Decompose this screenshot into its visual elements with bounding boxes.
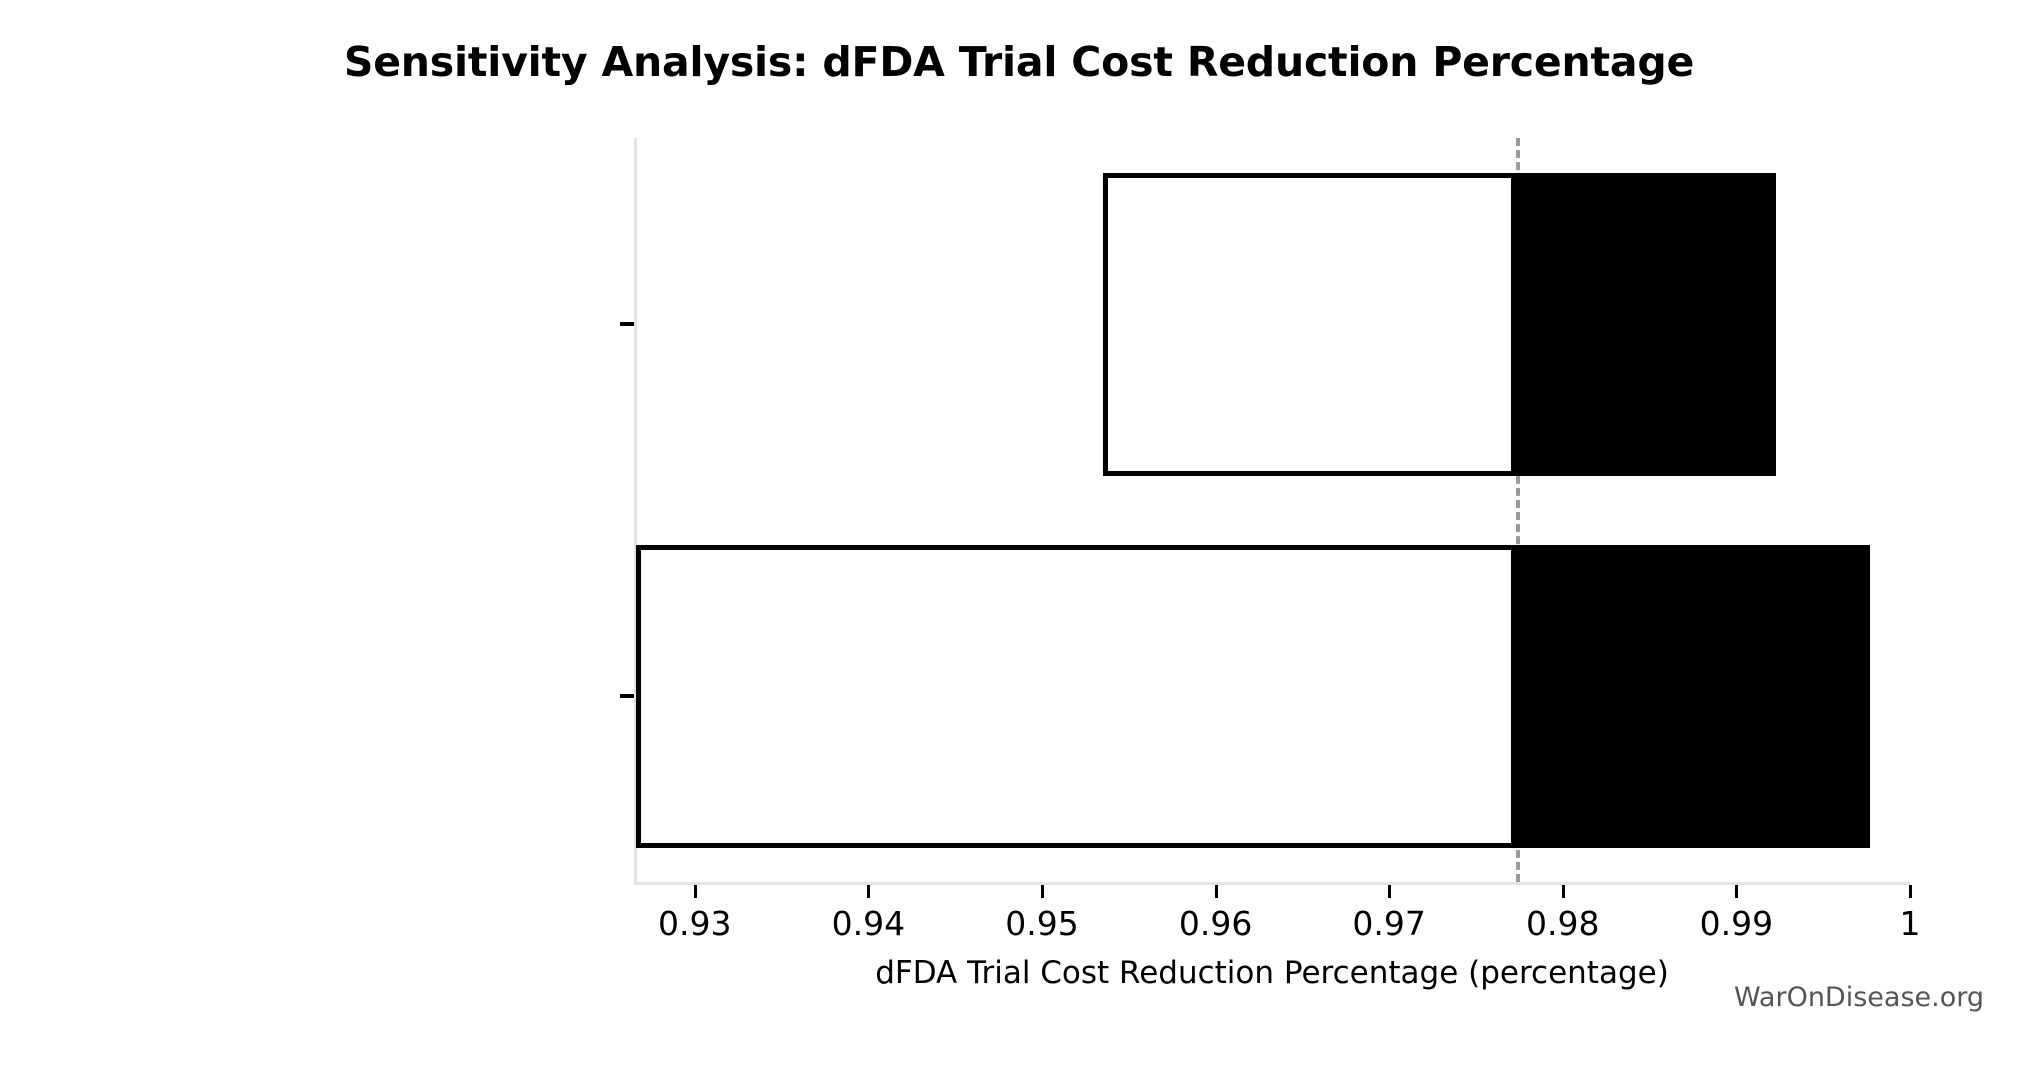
x-axis-tick-label: 1 xyxy=(1900,904,1921,943)
tornado-bar xyxy=(634,173,1910,476)
chart-title: Sensitivity Analysis: dFDA Trial Cost Re… xyxy=(0,38,2038,86)
plot-area: Phase 3 Cost per PatientdFDA Pragmatic T… xyxy=(634,138,1910,882)
tornado-bar-high-segment xyxy=(1516,173,1776,476)
x-axis-tick xyxy=(1388,885,1391,898)
x-axis-tick-label: 0.94 xyxy=(832,904,905,943)
x-axis-tick-label: 0.95 xyxy=(1005,904,1078,943)
x-axis-tick xyxy=(1215,885,1218,898)
tornado-bar-high-segment xyxy=(1516,545,1870,848)
watermark: WarOnDisease.org xyxy=(1734,982,1984,1013)
x-axis-tick-label: 0.93 xyxy=(658,904,731,943)
x-axis-tick xyxy=(1041,885,1044,898)
y-axis-tick xyxy=(620,322,634,326)
x-axis-tick xyxy=(1562,885,1565,898)
x-axis-title: dFDA Trial Cost Reduction Percentage (pe… xyxy=(634,955,1910,991)
y-axis-tick xyxy=(620,694,634,698)
x-axis-tick xyxy=(867,885,870,898)
x-axis-tick xyxy=(1909,885,1912,898)
tornado-bar xyxy=(634,545,1910,848)
x-axis-tick-label: 0.98 xyxy=(1526,904,1599,943)
tornado-bar-low-segment xyxy=(636,545,1516,848)
x-axis-tick-label: 0.99 xyxy=(1700,904,1773,943)
x-axis-spine xyxy=(634,882,1910,885)
tornado-bar-low-segment xyxy=(1103,173,1516,476)
x-axis-tick xyxy=(694,885,697,898)
x-axis-tick-label: 0.97 xyxy=(1352,904,1425,943)
x-axis-tick xyxy=(1735,885,1738,898)
chart-figure: Sensitivity Analysis: dFDA Trial Cost Re… xyxy=(0,0,2038,1075)
x-axis-tick-label: 0.96 xyxy=(1179,904,1252,943)
